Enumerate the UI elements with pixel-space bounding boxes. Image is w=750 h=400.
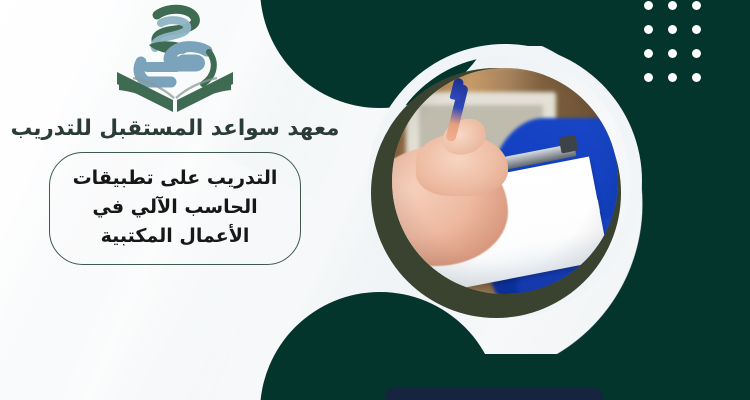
photo-vignette <box>392 68 618 294</box>
dot <box>644 25 653 34</box>
dot <box>668 1 677 10</box>
open-book-with-hand-logo <box>111 4 239 116</box>
organization-name: معهد سواعد المستقبل للتدريب <box>11 116 340 141</box>
hand-writing-on-clipboard-photo <box>392 68 618 294</box>
dot <box>692 25 701 34</box>
left-content: معهد سواعد المستقبل للتدريب التدريب على … <box>0 0 350 400</box>
dot-grid-decoration <box>636 0 708 90</box>
course-title: التدريب على تطبيقات الحاسب الآلي في الأع… <box>66 164 284 251</box>
dot <box>644 49 653 58</box>
dot <box>692 1 701 10</box>
dot <box>644 73 653 82</box>
course-banner: معهد سواعد المستقبل للتدريب التدريب على … <box>0 0 750 400</box>
dot <box>692 49 701 58</box>
dot <box>668 25 677 34</box>
dot <box>668 73 677 82</box>
dot <box>644 1 653 10</box>
dot <box>692 73 701 82</box>
navy-bottom-bar <box>385 388 603 400</box>
course-title-box: التدريب على تطبيقات الحاسب الآلي في الأع… <box>49 152 301 265</box>
dot <box>668 49 677 58</box>
